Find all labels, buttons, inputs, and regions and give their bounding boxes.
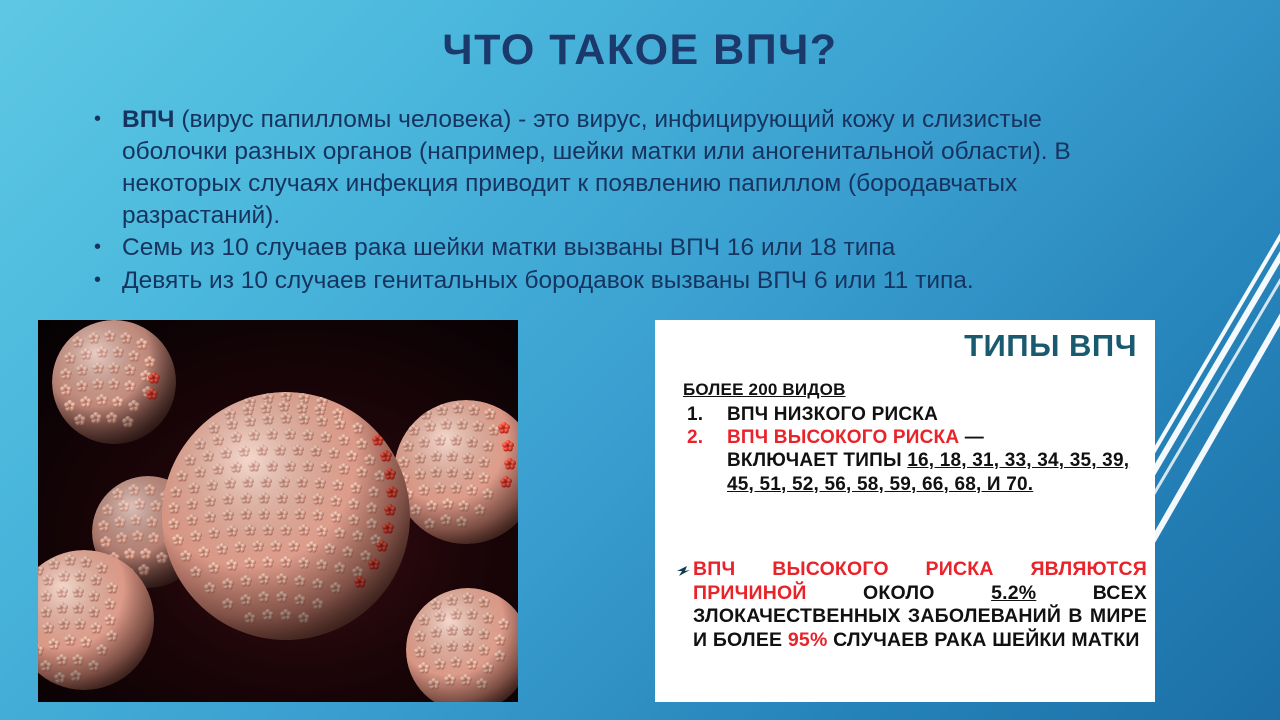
notice-stat-95: 95% — [788, 629, 828, 651]
notice-stat-5-2: 5.2% — [991, 582, 1036, 604]
em-dash: — — [959, 427, 984, 448]
bullet-dot-icon: • — [88, 104, 122, 134]
panel-kicker: БОЛЕЕ 200 ВИДОВ — [683, 380, 1145, 400]
list-item: • ВПЧ (вирус папилломы человека) - это в… — [88, 104, 1118, 231]
panel-heading: ТИПЫ ВПЧ — [964, 328, 1137, 364]
high-risk-label: ВПЧ ВЫСОКОГО РИСКА — [727, 427, 959, 448]
list-item-index: 1. — [683, 403, 727, 426]
list-item-label: ВПЧ НИЗКОГО РИСКА — [727, 403, 1145, 426]
notice-part-6: СЛУЧАЕВ РАКА ШЕЙКИ МАТКИ — [828, 629, 1140, 651]
list-item: • Девять из 10 случаев генитальных бород… — [88, 265, 1118, 297]
list-item-label: ВПЧ ВЫСОКОГО РИСКА —ВКЛЮЧАЕТ ТИПЫ 16, 18… — [727, 426, 1145, 496]
notice-text: ВПЧ ВЫСОКОГО РИСКА ЯВЛЯЮТСЯ ПРИЧИНОЙ ОКО… — [693, 558, 1147, 652]
hpv-types-list: 1. ВПЧ НИЗКОГО РИСКА 2. ВПЧ ВЫСОКОГО РИС… — [683, 403, 1145, 496]
high-risk-notice: ВПЧ ВЫСОКОГО РИСКА ЯВЛЯЮТСЯ ПРИЧИНОЙ ОКО… — [677, 558, 1147, 652]
hpv-types-panel: ТИПЫ ВПЧ БОЛЕЕ 200 ВИДОВ 1. ВПЧ НИЗКОГО … — [655, 320, 1155, 702]
list-item: • Семь из 10 случаев рака шейки матки вы… — [88, 232, 1118, 264]
bullet-text: ВПЧ (вирус папилломы человека) - это вир… — [122, 104, 1118, 231]
includes-prefix: ВКЛЮЧАЕТ ТИПЫ — [727, 450, 907, 471]
slide-hpv-what-is-it: ЧТО ТАКОЕ ВПЧ? • ВПЧ (вирус папилломы че… — [0, 0, 1280, 720]
bullet-lead: ВПЧ — [122, 106, 175, 133]
list-item: 2. ВПЧ ВЫСОКОГО РИСКА —ВКЛЮЧАЕТ ТИПЫ 16,… — [683, 426, 1145, 496]
list-item: 1. ВПЧ НИЗКОГО РИСКА — [683, 403, 1145, 426]
bullet-dot-icon: • — [88, 265, 122, 295]
bullet-list: • ВПЧ (вирус папилломы человека) - это в… — [88, 104, 1118, 298]
bullet-text: Семь из 10 случаев рака шейки матки вызв… — [122, 232, 1118, 264]
panel-body: БОЛЕЕ 200 ВИДОВ 1. ВПЧ НИЗКОГО РИСКА 2. … — [683, 380, 1145, 496]
hpv-virus-image — [38, 320, 518, 702]
slide-title: ЧТО ТАКОЕ ВПЧ? — [0, 28, 1280, 73]
bullet-rest: (вирус папилломы человека) - это вирус, … — [122, 106, 1071, 229]
bullet-dot-icon: • — [88, 232, 122, 262]
notice-part-2: ОКОЛО — [807, 582, 991, 604]
list-item-index: 2. — [683, 426, 727, 449]
arrow-bullet-icon — [677, 564, 693, 582]
bullet-text: Девять из 10 случаев генитальных бородав… — [122, 265, 1118, 297]
